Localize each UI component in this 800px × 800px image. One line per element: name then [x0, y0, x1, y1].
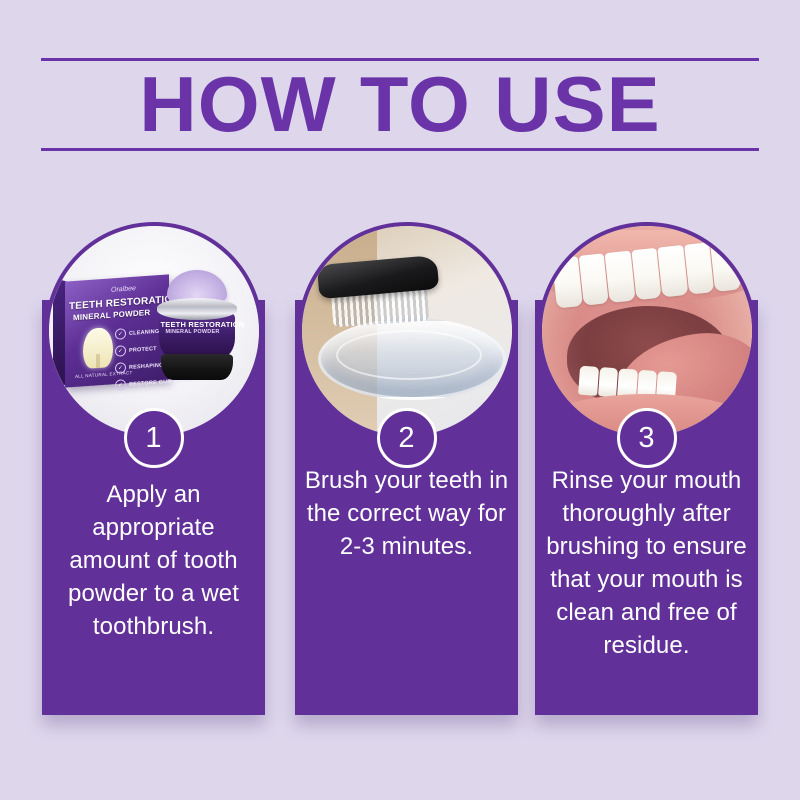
title-rule-bottom — [41, 148, 759, 151]
step-number-badge-2: 2 — [377, 408, 437, 468]
check-icon: ✓ — [115, 328, 126, 340]
jar-rim — [157, 298, 237, 320]
step-3-description: Rinse your mouth thoroughly after brushi… — [543, 464, 750, 662]
step-number-badge-1: 1 — [124, 408, 184, 468]
jar-label-line1: TEETH RESTORATION — [161, 320, 225, 329]
jar-label-line2: MINERAL POWDER — [161, 329, 225, 335]
step-1-photo-image: Oralbee TEETH RESTORATION MINERAL POWDER… — [49, 226, 259, 436]
header: HOW TO USE — [41, 58, 759, 151]
jar-base — [161, 354, 233, 380]
glass-inner-rim — [336, 330, 482, 380]
step-2-photo-image — [302, 226, 512, 436]
product-jar: TEETH RESTORATION MINERAL POWDER — [153, 270, 239, 386]
step-card-3: 3 Rinse your mouth thoroughly after brus… — [535, 300, 758, 715]
step-card-2: 2 Brush your teeth in the correct way fo… — [295, 300, 518, 715]
step-card-1: Oralbee TEETH RESTORATION MINERAL POWDER… — [42, 300, 265, 715]
step-3-photo-image — [542, 226, 752, 436]
step-1-description: Apply an appropriate amount of tooth pow… — [50, 478, 257, 643]
steps-container: Oralbee TEETH RESTORATION MINERAL POWDER… — [42, 300, 758, 720]
page-title: HOW TO USE — [34, 61, 766, 148]
check-icon: ✓ — [115, 345, 126, 357]
tooth-icon — [83, 327, 113, 369]
check-icon: ✓ — [115, 379, 126, 391]
step-number-badge-3: 3 — [617, 408, 677, 468]
step-2-description: Brush your teeth in the correct way for … — [303, 464, 510, 563]
